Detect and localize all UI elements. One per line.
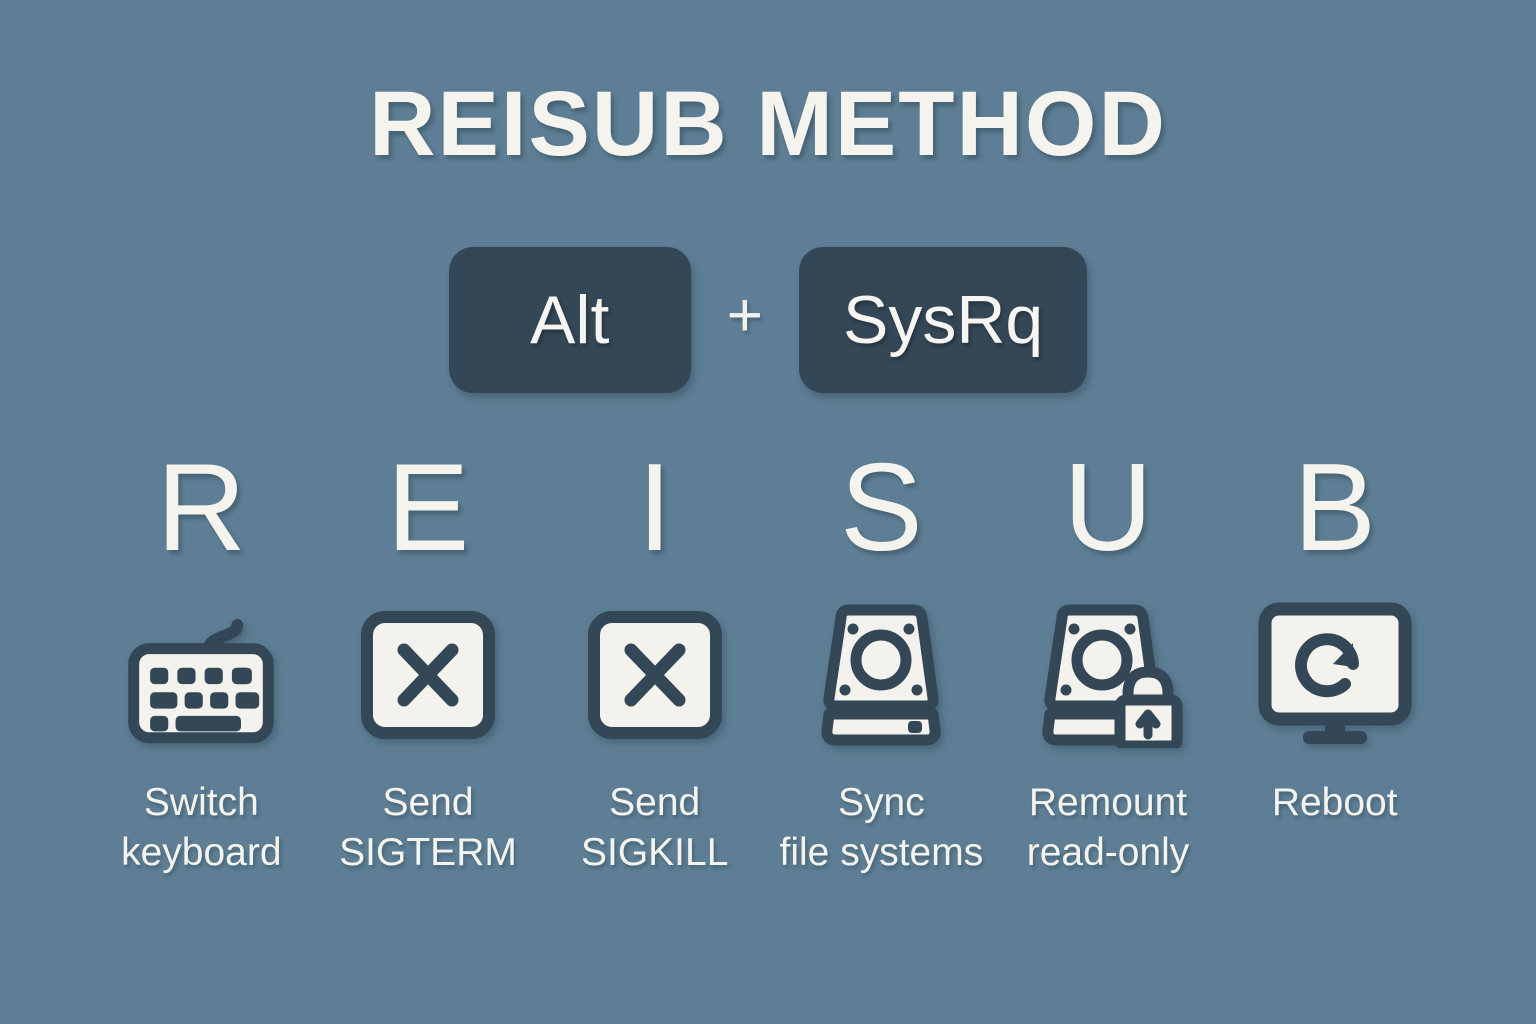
acronym-letter-i: I: [541, 452, 768, 564]
hard-drive-icon: [801, 600, 961, 750]
step-send-sigterm: Send SIGTERM: [315, 600, 542, 878]
step-sync-file-systems: Sync file systems: [768, 600, 995, 878]
x-square-icon: [575, 600, 735, 750]
plus-sign: +: [727, 285, 763, 347]
keycap-alt: Alt: [449, 247, 691, 393]
acronym-letter-b: B: [1221, 452, 1448, 564]
step-caption: Remount read-only: [1027, 778, 1190, 878]
step-send-sigkill: Send SIGKILL: [541, 600, 768, 878]
acronym-letter-r: R: [88, 452, 315, 564]
reisub-poster: REISUB METHOD Alt + SysRq R E I S U B: [0, 0, 1536, 1024]
keyboard-icon: [121, 600, 281, 750]
monitor-refresh-icon: [1255, 600, 1415, 750]
keycap-sysrq: SysRq: [799, 247, 1087, 393]
key-combination: Alt + SysRq: [0, 246, 1536, 394]
acronym-letter-e: E: [315, 452, 542, 564]
hard-drive-lock-icon: [1028, 600, 1188, 750]
step-caption: Switch keyboard: [121, 778, 281, 878]
step-caption: Send SIGKILL: [581, 778, 728, 878]
step-remount-read-only: Remount read-only: [995, 600, 1222, 878]
page-title: REISUB METHOD: [0, 78, 1536, 170]
acronym-letter-u: U: [995, 452, 1222, 564]
step-reboot: Reboot: [1221, 600, 1448, 878]
step-switch-keyboard: Switch keyboard: [88, 600, 315, 878]
x-square-icon: [348, 600, 508, 750]
acronym-letter-s: S: [768, 452, 995, 564]
step-caption: Reboot: [1272, 778, 1398, 828]
steps-row: Switch keyboard Send SIGTERM: [88, 600, 1448, 878]
step-caption: Send SIGTERM: [339, 778, 517, 878]
step-caption: Sync file systems: [780, 778, 984, 878]
acronym-letters-row: R E I S U B: [88, 452, 1448, 564]
